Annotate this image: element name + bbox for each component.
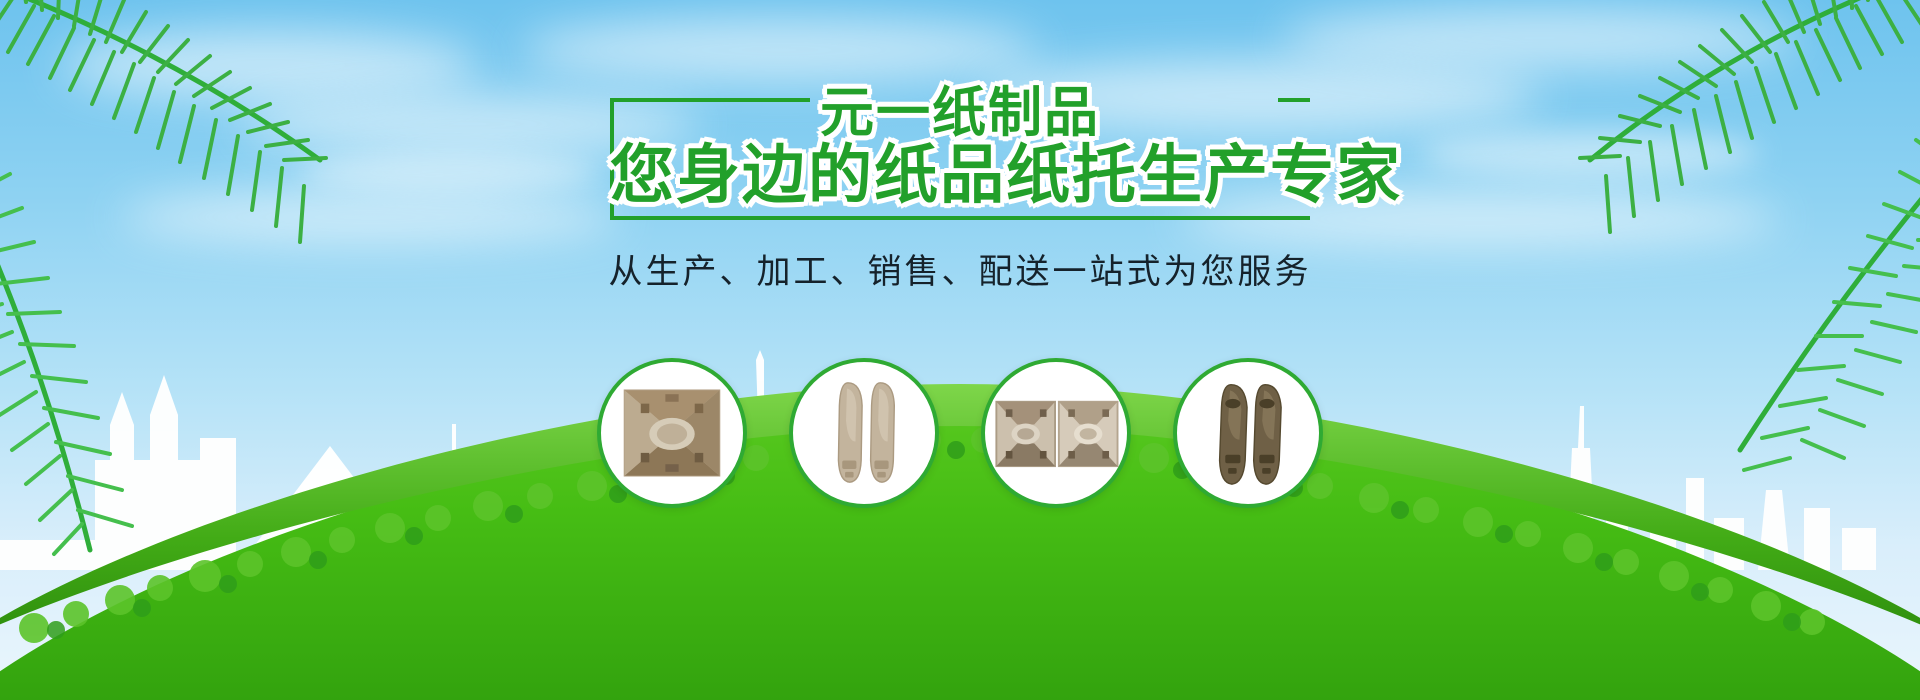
- promotional-banner: 元一纸制品 您身边的纸品纸托生产专家 从生产、加工、销售、配送一站式为您服务: [0, 0, 1920, 700]
- headline-line-2: 您身边的纸品纸托生产专家: [610, 124, 1310, 216]
- shoe-trees-dark-icon: [1177, 362, 1319, 504]
- banner-subtitle: 从生产、加工、销售、配送一站式为您服务: [609, 244, 1312, 293]
- frame-bottom-rule: [610, 216, 1310, 220]
- product-circle-dark-shoe-trees[interactable]: [1173, 358, 1323, 508]
- product-circle-square-pulp-tray[interactable]: [597, 358, 747, 508]
- product-showcase: [0, 358, 1920, 508]
- product-circle-double-pulp-trays[interactable]: [981, 358, 1131, 508]
- headline-frame: 元一纸制品 您身边的纸品纸托生产专家: [610, 72, 1310, 220]
- product-circle-paper-shoe-trees[interactable]: [789, 358, 939, 508]
- double-tray-icon: [985, 362, 1127, 504]
- shoe-trees-light-icon: [793, 362, 935, 504]
- square-tray-icon: [601, 362, 743, 504]
- banner-text-block: 元一纸制品 您身边的纸品纸托生产专家 从生产、加工、销售、配送一站式为您服务: [0, 72, 1920, 293]
